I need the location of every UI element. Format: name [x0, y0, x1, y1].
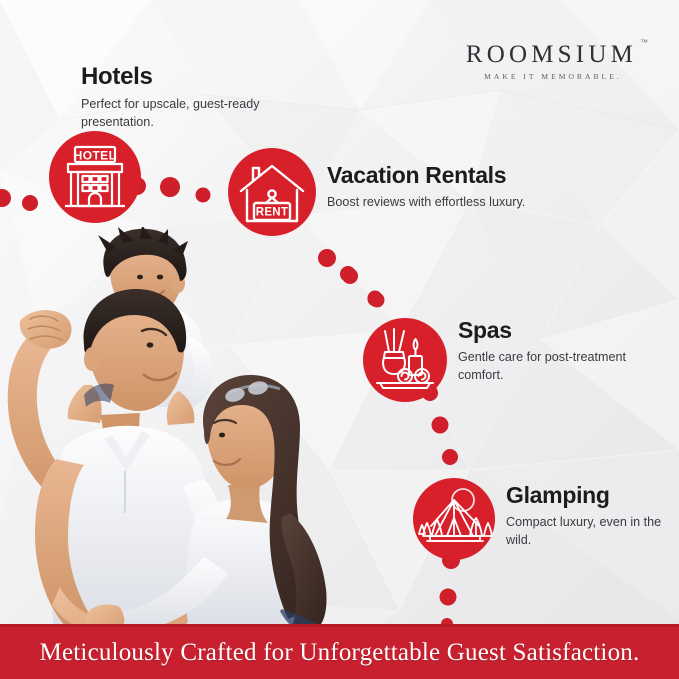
trademark-symbol: ™ — [640, 38, 648, 47]
house-for-rent-icon[interactable]: RENT — [228, 148, 316, 236]
feature-spas-description: Gentle care for post-treatment comfort. — [458, 349, 638, 384]
bottom-banner: Meticulously Crafted for Unforgettable G… — [0, 627, 679, 679]
svg-text:RENT: RENT — [256, 207, 289, 219]
banner-top-divider — [0, 624, 679, 627]
glamping-tent-icon[interactable] — [413, 478, 495, 560]
hotel-building-icon[interactable]: HOTEL — [49, 131, 141, 223]
family-photo — [0, 227, 342, 627]
feature-hotels-description: Perfect for upscale, guest-ready present… — [81, 96, 281, 131]
feature-vacation-rentals-title: Vacation Rentals — [327, 163, 557, 187]
banner-text: Meticulously Crafted for Unforgettable G… — [40, 639, 640, 667]
feature-hotels-title: Hotels — [81, 64, 281, 89]
svg-text:HOTEL: HOTEL — [74, 149, 117, 163]
spa-candle-towels-icon[interactable] — [363, 318, 447, 402]
feature-glamping-description: Compact luxury, even in the wild. — [506, 514, 679, 549]
poster-canvas: ROOMSIUM ™ MAKE IT MEMORABLE. — [0, 0, 679, 679]
brand-tagline: MAKE IT MEMORABLE. — [466, 72, 637, 81]
feature-spas-title: Spas — [458, 318, 638, 342]
brand-name: ROOMSIUM — [466, 42, 637, 67]
feature-glamping-title: Glamping — [506, 483, 679, 507]
brand-logo: ROOMSIUM ™ MAKE IT MEMORABLE. — [466, 42, 637, 81]
feature-vacation-rentals-description: Boost reviews with effortless luxury. — [327, 194, 557, 211]
